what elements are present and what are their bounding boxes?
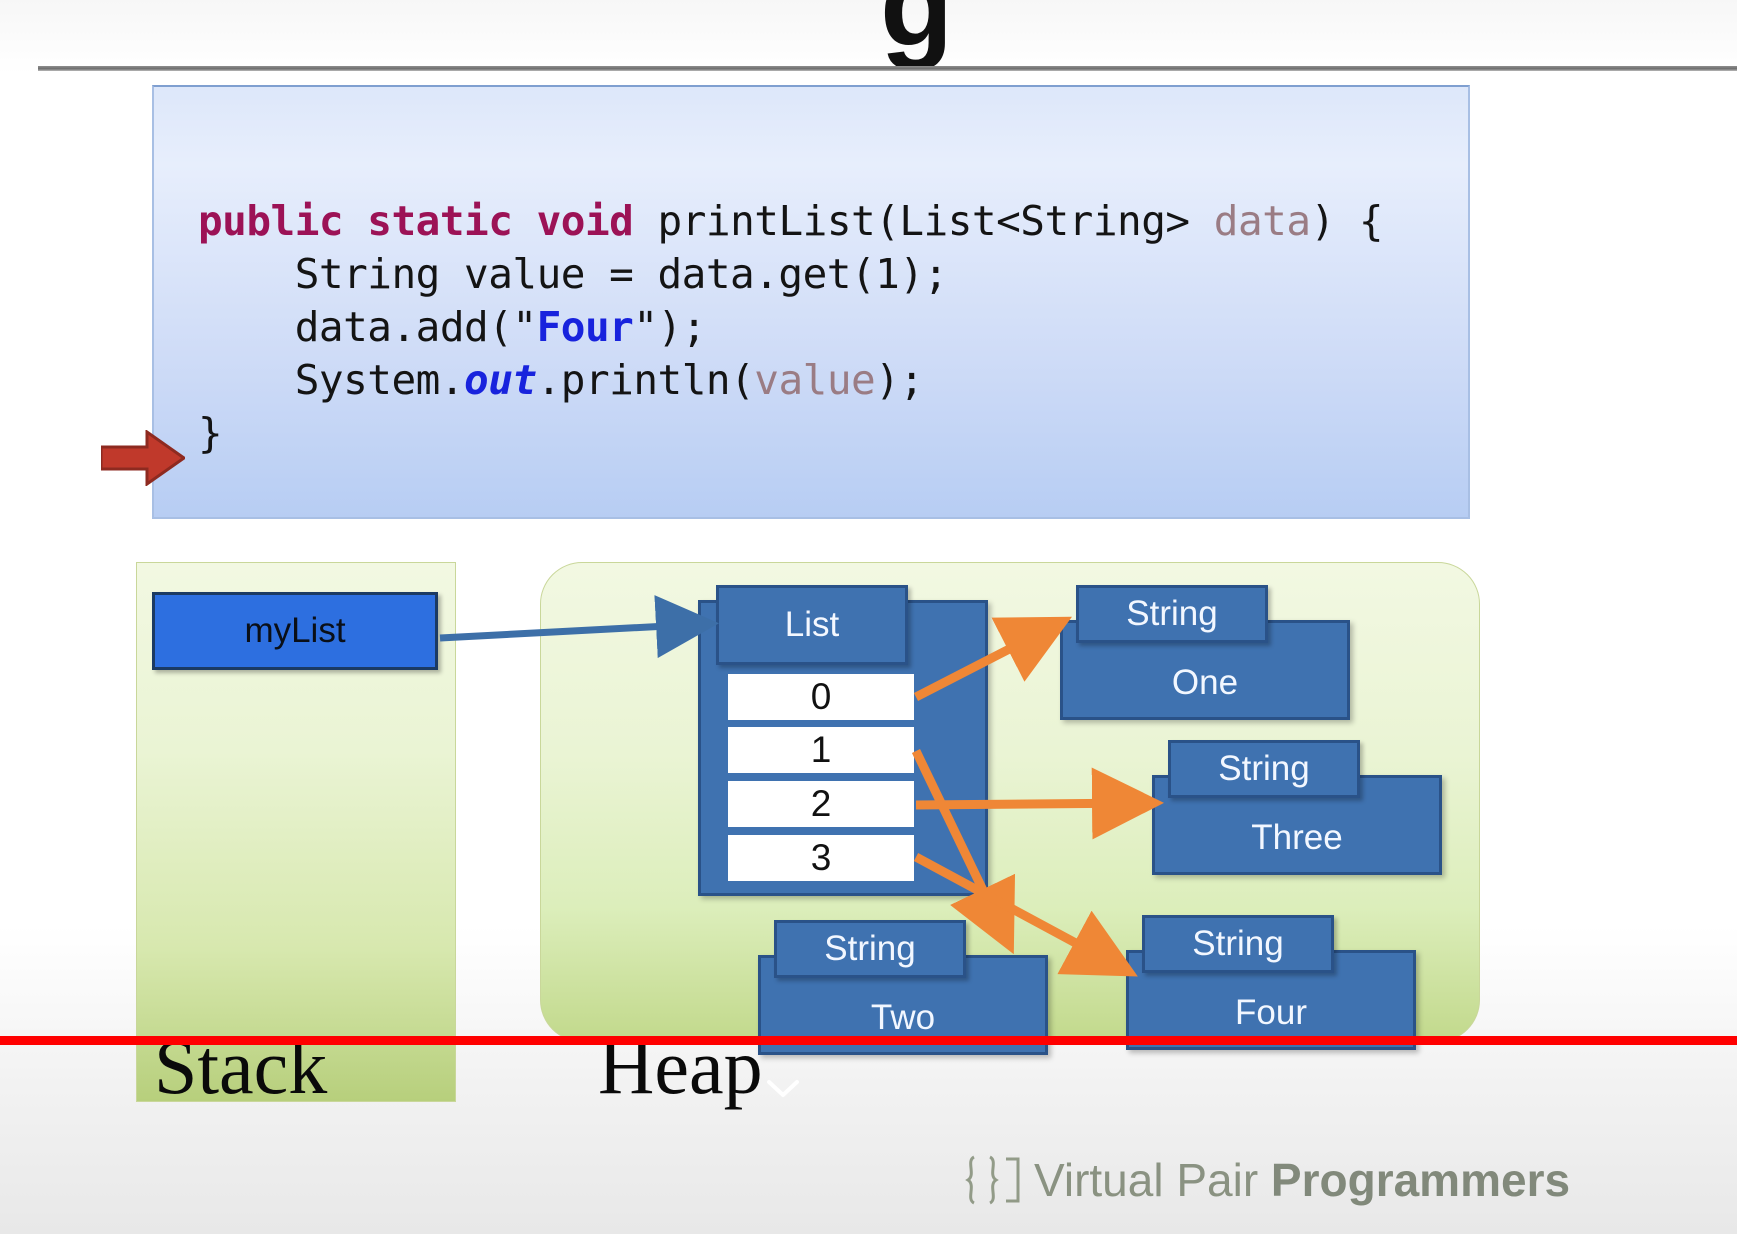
- slide-canvas: g public static void printList(List<Stri…: [0, 0, 1737, 1234]
- param-data: data: [1214, 197, 1311, 245]
- var-value: value: [754, 356, 875, 404]
- string-literal-four: Four: [537, 303, 634, 351]
- keyword-static: static: [367, 197, 512, 245]
- code-panel: public static void printList(List<String…: [152, 85, 1470, 519]
- watermark: Virtual Pair Programmers: [960, 1150, 1570, 1210]
- red-callout-arrow-icon: [101, 430, 185, 486]
- field-out: out: [464, 356, 537, 404]
- braces-logo-icon: [960, 1153, 1022, 1207]
- keyword-public: public: [198, 197, 343, 245]
- watermark-text: Virtual Pair Programmers: [1034, 1153, 1570, 1207]
- string-two-type: String: [774, 920, 966, 978]
- list-cell-2: 2: [728, 781, 914, 827]
- heap-list-type-label: List: [716, 585, 908, 665]
- video-progress-bar[interactable]: [0, 1036, 1737, 1045]
- watermark-text-light: Virtual Pair: [1034, 1154, 1271, 1206]
- watermark-text-bold: Programmers: [1271, 1154, 1570, 1206]
- string-one-type: String: [1076, 585, 1268, 643]
- list-cell-3: 3: [728, 835, 914, 881]
- header-divider: [38, 66, 1737, 71]
- code-block: public static void printList(List<String…: [198, 195, 1383, 460]
- keyword-void: void: [537, 197, 634, 245]
- string-three-type: String: [1168, 740, 1360, 798]
- chevron-down-icon[interactable]: [766, 1078, 800, 1100]
- list-cell-1: 1: [728, 727, 914, 773]
- stack-variable-mylist: myList: [152, 592, 438, 670]
- list-cell-0: 0: [728, 674, 914, 720]
- string-four-type: String: [1142, 915, 1334, 973]
- page-title-partial: g: [880, 0, 953, 64]
